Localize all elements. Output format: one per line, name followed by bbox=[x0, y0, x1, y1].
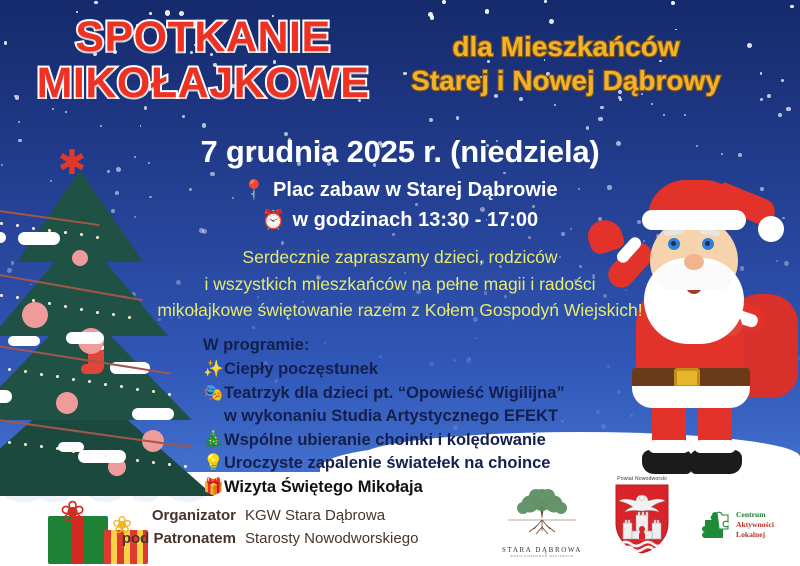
invite-line-2: i wszystkich mieszkańców na pełne magii … bbox=[0, 271, 800, 298]
tree-snow-cap bbox=[58, 442, 84, 452]
logo-powiat-caption: Powiat Nowodworski bbox=[596, 476, 688, 482]
tree-light bbox=[96, 236, 99, 239]
poster-canvas: ✱ ❀ ❀ bbox=[0, 0, 800, 566]
event-date: 7 grudnia 2025 r. (niedziela) bbox=[0, 134, 800, 170]
tree-light bbox=[72, 450, 75, 453]
gift-green-bow-icon: ❀ bbox=[60, 498, 85, 528]
subtitle-line-2: Starej i Nowej Dąbrowy bbox=[366, 64, 766, 98]
santa-boot-cuff-left bbox=[648, 440, 690, 453]
logo-stara-dabrowa: STARA DĄBROWA KOŁO GOSPODYŃ WIEJSKICH bbox=[496, 487, 588, 558]
oak-tree-logo-icon bbox=[496, 487, 588, 541]
program-item: 🎭Teatrzyk dla dzieci pt. “Opowieść Wigil… bbox=[203, 382, 565, 405]
logo-powiat-nowodworski: Powiat Nowodworski bbox=[596, 476, 688, 560]
tree-snow-cap bbox=[66, 332, 104, 344]
cal-line-3: Lokalnej bbox=[736, 530, 774, 540]
event-location-line: 📍Plac zabaw w Starej Dąbrowie bbox=[0, 178, 800, 202]
title-line-2: MIKOŁAJKOWE bbox=[18, 62, 388, 104]
alarm-clock-icon: ⏰ bbox=[262, 210, 286, 231]
program-item-label: Wspólne ubieranie choinki i kolędowanie bbox=[224, 431, 546, 449]
tree-snow-cap bbox=[0, 232, 6, 243]
santa-coat-fur-trim bbox=[632, 386, 750, 408]
location-pin-icon: 📍 bbox=[242, 180, 266, 201]
program-item-label: w wykonaniu Studia Artystycznego EFEKT bbox=[224, 407, 558, 425]
program-item-label: Ciepły poczęstunek bbox=[224, 360, 378, 378]
invite-line-3: mikołajkowe świętowanie razem z Kołem Go… bbox=[0, 297, 800, 324]
program-item-icon: 🎭 bbox=[203, 382, 224, 405]
tree-light bbox=[24, 443, 27, 446]
tree-snow-cap bbox=[132, 408, 174, 420]
logo-strip: STARA DĄBROWA KOŁO GOSPODYŃ WIEJSKICH Po… bbox=[492, 478, 798, 560]
title-line-1: SPOTKANIE bbox=[75, 13, 330, 61]
program-item-icon: 🎁 bbox=[203, 476, 224, 499]
organizer-value: KGW Stara Dąbrowa bbox=[245, 505, 385, 528]
tree-light bbox=[72, 378, 75, 381]
logo-centrum-aktywnosci-lokalnej: Centrum Aktywności Lokalnej bbox=[702, 510, 798, 540]
tree-light bbox=[168, 393, 171, 396]
tree-light bbox=[152, 461, 155, 464]
tree-light bbox=[8, 441, 11, 444]
cal-line-2: Aktywności bbox=[736, 520, 774, 530]
program-item: 🎄Wspólne ubieranie choinki i kolędowanie bbox=[203, 429, 565, 452]
program-item: w wykonaniu Studia Artystycznego EFEKT bbox=[203, 405, 565, 428]
tree-light bbox=[88, 452, 91, 455]
organizer-label: Organizator bbox=[108, 505, 236, 528]
tree-light bbox=[40, 373, 43, 376]
cal-logo-text: Centrum Aktywności Lokalnej bbox=[736, 510, 774, 540]
event-time-line: ⏰w godzinach 13:30 - 17:00 bbox=[0, 208, 800, 232]
organizer-block: Organizator KGW Stara Dąbrowa pod Patron… bbox=[108, 505, 418, 550]
poster-subtitle: dla Mieszkańców Starej i Nowej Dąbrowy bbox=[366, 30, 766, 98]
patron-value: Starosty Nowodworskiego bbox=[245, 528, 418, 551]
organizer-row: Organizator KGW Stara Dąbrowa bbox=[108, 505, 418, 528]
patron-label: pod Patronatem bbox=[108, 528, 236, 551]
program-item-icon: ✨ bbox=[203, 358, 224, 381]
program-item-label: Teatrzyk dla dzieci pt. “Opowieść Wigili… bbox=[224, 384, 565, 402]
santa-boot-left bbox=[642, 450, 692, 474]
program-item-label: Uroczyste zapalenie światełek na choince bbox=[224, 454, 550, 472]
gift-box-green: ❀ bbox=[48, 502, 108, 564]
program-item: 💡Uroczyste zapalenie światełek na choinc… bbox=[203, 452, 565, 475]
tree-light bbox=[136, 459, 139, 462]
tree-light bbox=[184, 465, 187, 468]
tree-snow-cap bbox=[78, 450, 126, 463]
subtitle-line-1: dla Mieszkańców bbox=[366, 30, 766, 64]
invitation-paragraph: Serdecznie zapraszamy dzieci, rodziców i… bbox=[0, 244, 800, 324]
program-heading: W programie: bbox=[203, 334, 565, 357]
santa-boot-right bbox=[690, 450, 742, 474]
event-time-text: w godzinach 13:30 - 17:00 bbox=[293, 209, 539, 231]
program-item-icon: 🎄 bbox=[203, 429, 224, 452]
puzzle-piece-logo-icon bbox=[702, 511, 732, 539]
logo-dabrowa-name: STARA DĄBROWA bbox=[496, 546, 588, 554]
patron-row: pod Patronatem Starosty Nowodworskiego bbox=[108, 528, 418, 551]
tree-light bbox=[136, 388, 139, 391]
program-item-label: Wizyta Świętego Mikołaja bbox=[224, 478, 423, 496]
poster-title: SPOTKANIE MIKOŁAJKOWE bbox=[18, 16, 388, 104]
logo-dabrowa-subtitle: KOŁO GOSPODYŃ WIEJSKICH bbox=[496, 554, 588, 558]
program-item-icon: 💡 bbox=[203, 452, 224, 475]
program-item: ✨Ciepły poczęstunek bbox=[203, 358, 565, 381]
event-location-text: Plac zabaw w Starej Dąbrowie bbox=[273, 179, 558, 201]
santa-belt-buckle bbox=[674, 368, 700, 388]
tree-snow-cap bbox=[8, 336, 40, 346]
tree-light bbox=[8, 368, 11, 371]
powiat-coat-of-arms-icon bbox=[612, 483, 672, 555]
cal-line-1: Centrum bbox=[736, 510, 774, 520]
tree-light bbox=[104, 383, 107, 386]
tree-ornament bbox=[56, 392, 78, 414]
invite-line-1: Serdecznie zapraszamy dzieci, rodziców bbox=[0, 244, 800, 271]
program-section: W programie: ✨Ciepły poczęstunek🎭Teatrzy… bbox=[203, 334, 565, 499]
santa-boot-cuff-right bbox=[694, 440, 736, 453]
